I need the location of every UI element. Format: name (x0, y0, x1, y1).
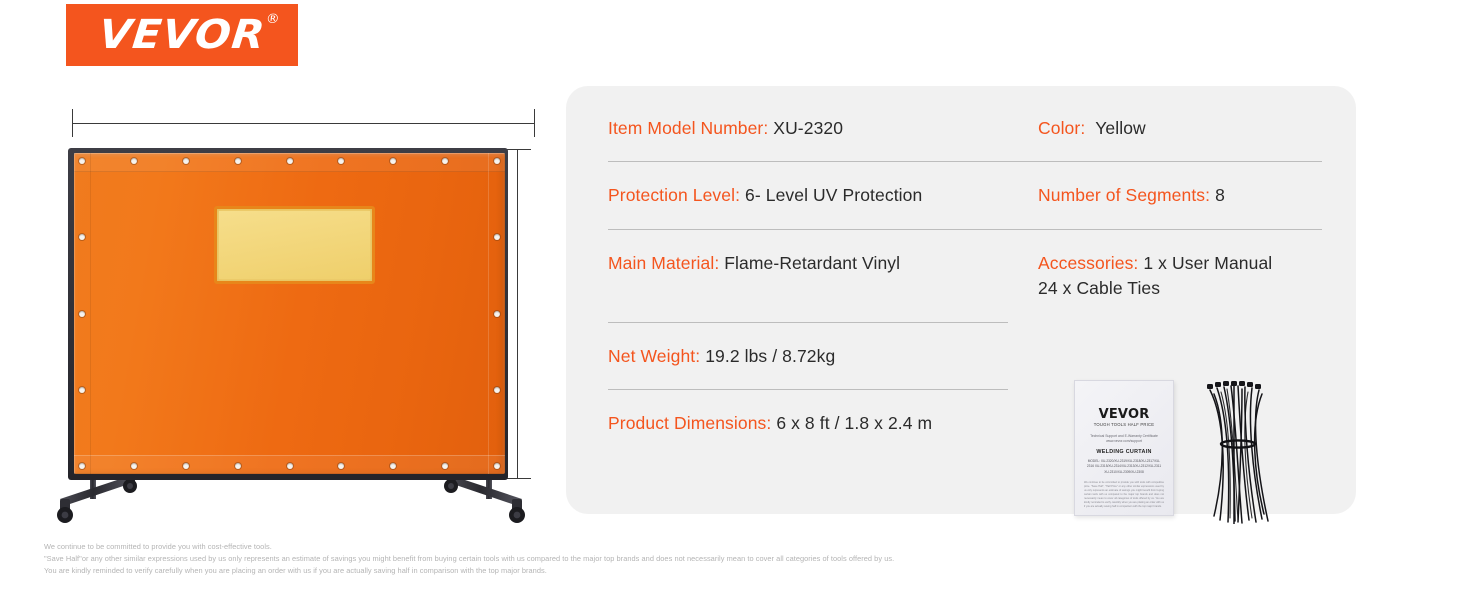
welding-curtain (68, 148, 508, 480)
spec-row: Protection Level: 6- Level UV Protection… (608, 183, 1322, 208)
grommet (494, 311, 500, 317)
manual-subtitle: Technical Support and E-Warranty Certifi… (1082, 434, 1166, 444)
footer-line-3: You are kindly reminded to verify carefu… (44, 565, 1344, 577)
product-illustration: 8ft / 2.4m 6ft / 1.8m (40, 85, 560, 525)
grommet (183, 463, 189, 469)
viewing-window (214, 206, 375, 284)
spec-item-product-dimensions: Product Dimensions: 6 x 8 ft / 1.8 x 2.4… (608, 411, 1038, 436)
specification-panel: Item Model Number: XU-2320 Color: Yellow… (566, 86, 1356, 514)
grommet (494, 463, 500, 469)
spec-value: 19.2 lbs / 8.72kg (705, 346, 835, 366)
spec-item-protection-level: Protection Level: 6- Level UV Protection (608, 183, 1038, 208)
spec-key: Net Weight: (608, 346, 700, 366)
spec-item-item-model-number: Item Model Number: XU-2320 (608, 116, 1038, 141)
manual-title: WELDING CURTAIN (1075, 449, 1173, 455)
grommet (287, 158, 293, 164)
spec-item-color: Color: Yellow (1038, 116, 1322, 141)
grommet (287, 463, 293, 469)
spec-item-net-weight: Net Weight: 19.2 lbs / 8.72kg (608, 344, 1038, 369)
grommet (235, 158, 241, 164)
spec-key: Color: (1038, 118, 1085, 138)
grommet (79, 387, 85, 393)
user-manual-image: VEVOR TOUGH TOOLS HALF PRICE Technical S… (1074, 380, 1174, 516)
manual-fine-print: We continue to be committed to provide y… (1084, 481, 1164, 509)
brand-name: VEVOR (96, 12, 267, 58)
curtain-fabric (74, 153, 505, 474)
spec-key: Item Model Number: (608, 118, 768, 138)
registered-mark-icon: ® (265, 13, 281, 26)
accessory-images: VEVOR TOUGH TOOLS HALF PRICE Technical S… (1074, 374, 1304, 534)
spec-row: Net Weight: 19.2 lbs / 8.72kg (608, 344, 1322, 369)
vevor-logo-text: VEVOR® (97, 15, 267, 55)
spec-value: 8 (1215, 185, 1225, 205)
spec-key: Protection Level: (608, 185, 740, 205)
spec-value: 6- Level UV Protection (745, 185, 922, 205)
manual-tagline: TOUGH TOOLS HALF PRICE (1075, 422, 1173, 427)
spec-key: Number of Segments: (1038, 185, 1210, 205)
spec-value: Yellow (1095, 118, 1146, 138)
spec-item-main-material: Main Material: Flame-Retardant Vinyl (608, 251, 1038, 276)
grommet (79, 463, 85, 469)
spec-key: Accessories: (1038, 253, 1138, 273)
viewing-window-pane (219, 211, 370, 279)
spec-value: 6 x 8 ft / 1.8 x 2.4 m (776, 413, 932, 433)
manual-models: MODEL: XU-2320/XU-2319/XU-2318/XU-2317/X… (1085, 459, 1163, 475)
grommet (235, 463, 241, 469)
spec-row: Main Material: Flame-Retardant Vinyl Acc… (608, 251, 1322, 302)
footer-line-2: "Save Half"or any other similar expressi… (44, 553, 1344, 565)
spec-row: Item Model Number: XU-2320 Color: Yellow (608, 116, 1322, 141)
spec-value: Flame-Retardant Vinyl (724, 253, 900, 273)
grommet (131, 158, 137, 164)
grommet (131, 463, 137, 469)
spec-key: Product Dimensions: (608, 413, 771, 433)
spec-value-line2: 24 x Cable Ties (1038, 276, 1322, 301)
footer-line-1: We continue to be committed to provide y… (44, 541, 1344, 553)
spec-item-number-of-segments: Number of Segments: 8 (1038, 183, 1322, 208)
grommet (494, 387, 500, 393)
grommet (79, 311, 85, 317)
spec-value: 1 x User Manual (1143, 253, 1272, 273)
footer-disclaimer: We continue to be committed to provide y… (44, 541, 1344, 577)
grommet (494, 158, 500, 164)
vevor-logo: VEVOR® (66, 4, 298, 66)
spec-key: Main Material: (608, 253, 719, 273)
spec-item-accessories: Accessories: 1 x User Manual 24 x Cable … (1038, 251, 1322, 302)
spec-value: XU-2320 (773, 118, 843, 138)
grommet (183, 158, 189, 164)
grommet (79, 158, 85, 164)
cable-ties-image (1190, 374, 1286, 524)
manual-logo: VEVOR (1075, 407, 1173, 422)
